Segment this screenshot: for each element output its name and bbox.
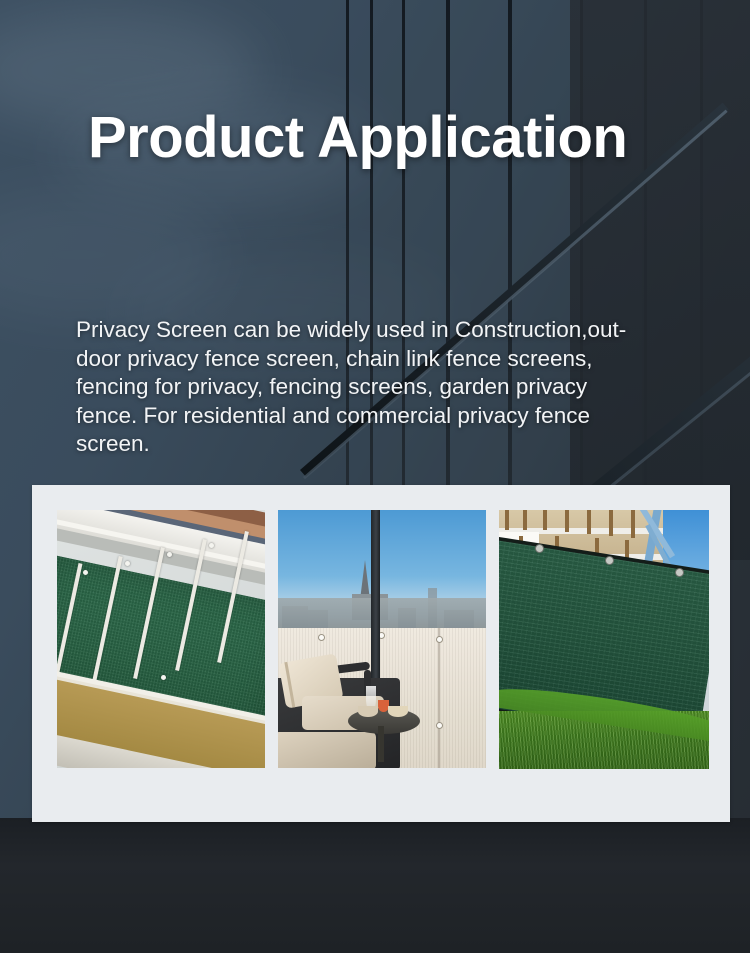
description-line: screen. — [76, 430, 680, 459]
screen-grommet — [436, 722, 443, 729]
screen-grommet — [605, 556, 614, 565]
page-title: Product Application — [88, 104, 627, 171]
terrace-pillar — [371, 510, 380, 706]
screen-grommet — [83, 570, 88, 575]
building-slab — [570, 0, 750, 560]
description-line: fence. For residential and commercial pr… — [76, 402, 680, 431]
timber-formwork — [631, 510, 635, 538]
timber-formwork — [587, 510, 591, 534]
screen-grommet — [125, 561, 130, 566]
timber-formwork — [505, 510, 509, 530]
description-line: fencing for privacy, fencing screens, ga… — [76, 373, 680, 402]
gallery-image-construction-fence[interactable] — [499, 510, 709, 769]
product-application-banner: Product Application Privacy Screen can b… — [0, 0, 750, 953]
terrace-foreground — [0, 818, 750, 953]
screen-grommet — [209, 543, 214, 548]
screen-grommet — [535, 544, 544, 553]
timber-formwork — [609, 510, 613, 536]
snack-bowl — [358, 706, 378, 717]
screen-grommet — [161, 675, 166, 680]
gallery-image-balcony-green-screen[interactable] — [57, 510, 265, 768]
snack-bowl — [388, 706, 408, 717]
description-paragraph: Privacy Screen can be widely used in Con… — [76, 316, 680, 459]
timber-formwork — [565, 510, 569, 532]
description-line: Privacy Screen can be widely used in Con… — [76, 316, 680, 345]
gallery-panel — [32, 485, 730, 822]
gallery-image-rooftop-terrace[interactable] — [278, 510, 486, 768]
gallery-image-row — [57, 510, 709, 769]
description-line: door privacy fence screen, chain link fe… — [76, 345, 680, 374]
screen-grommet — [167, 552, 172, 557]
screen-grommet — [675, 568, 684, 577]
timber-formwork — [523, 510, 527, 530]
side-table-leg — [378, 726, 384, 762]
screen-seam — [438, 628, 440, 768]
sofa-cushion — [278, 732, 376, 768]
timber-formwork — [543, 510, 547, 530]
screen-grommet — [436, 636, 443, 643]
screen-grommet — [318, 634, 325, 641]
